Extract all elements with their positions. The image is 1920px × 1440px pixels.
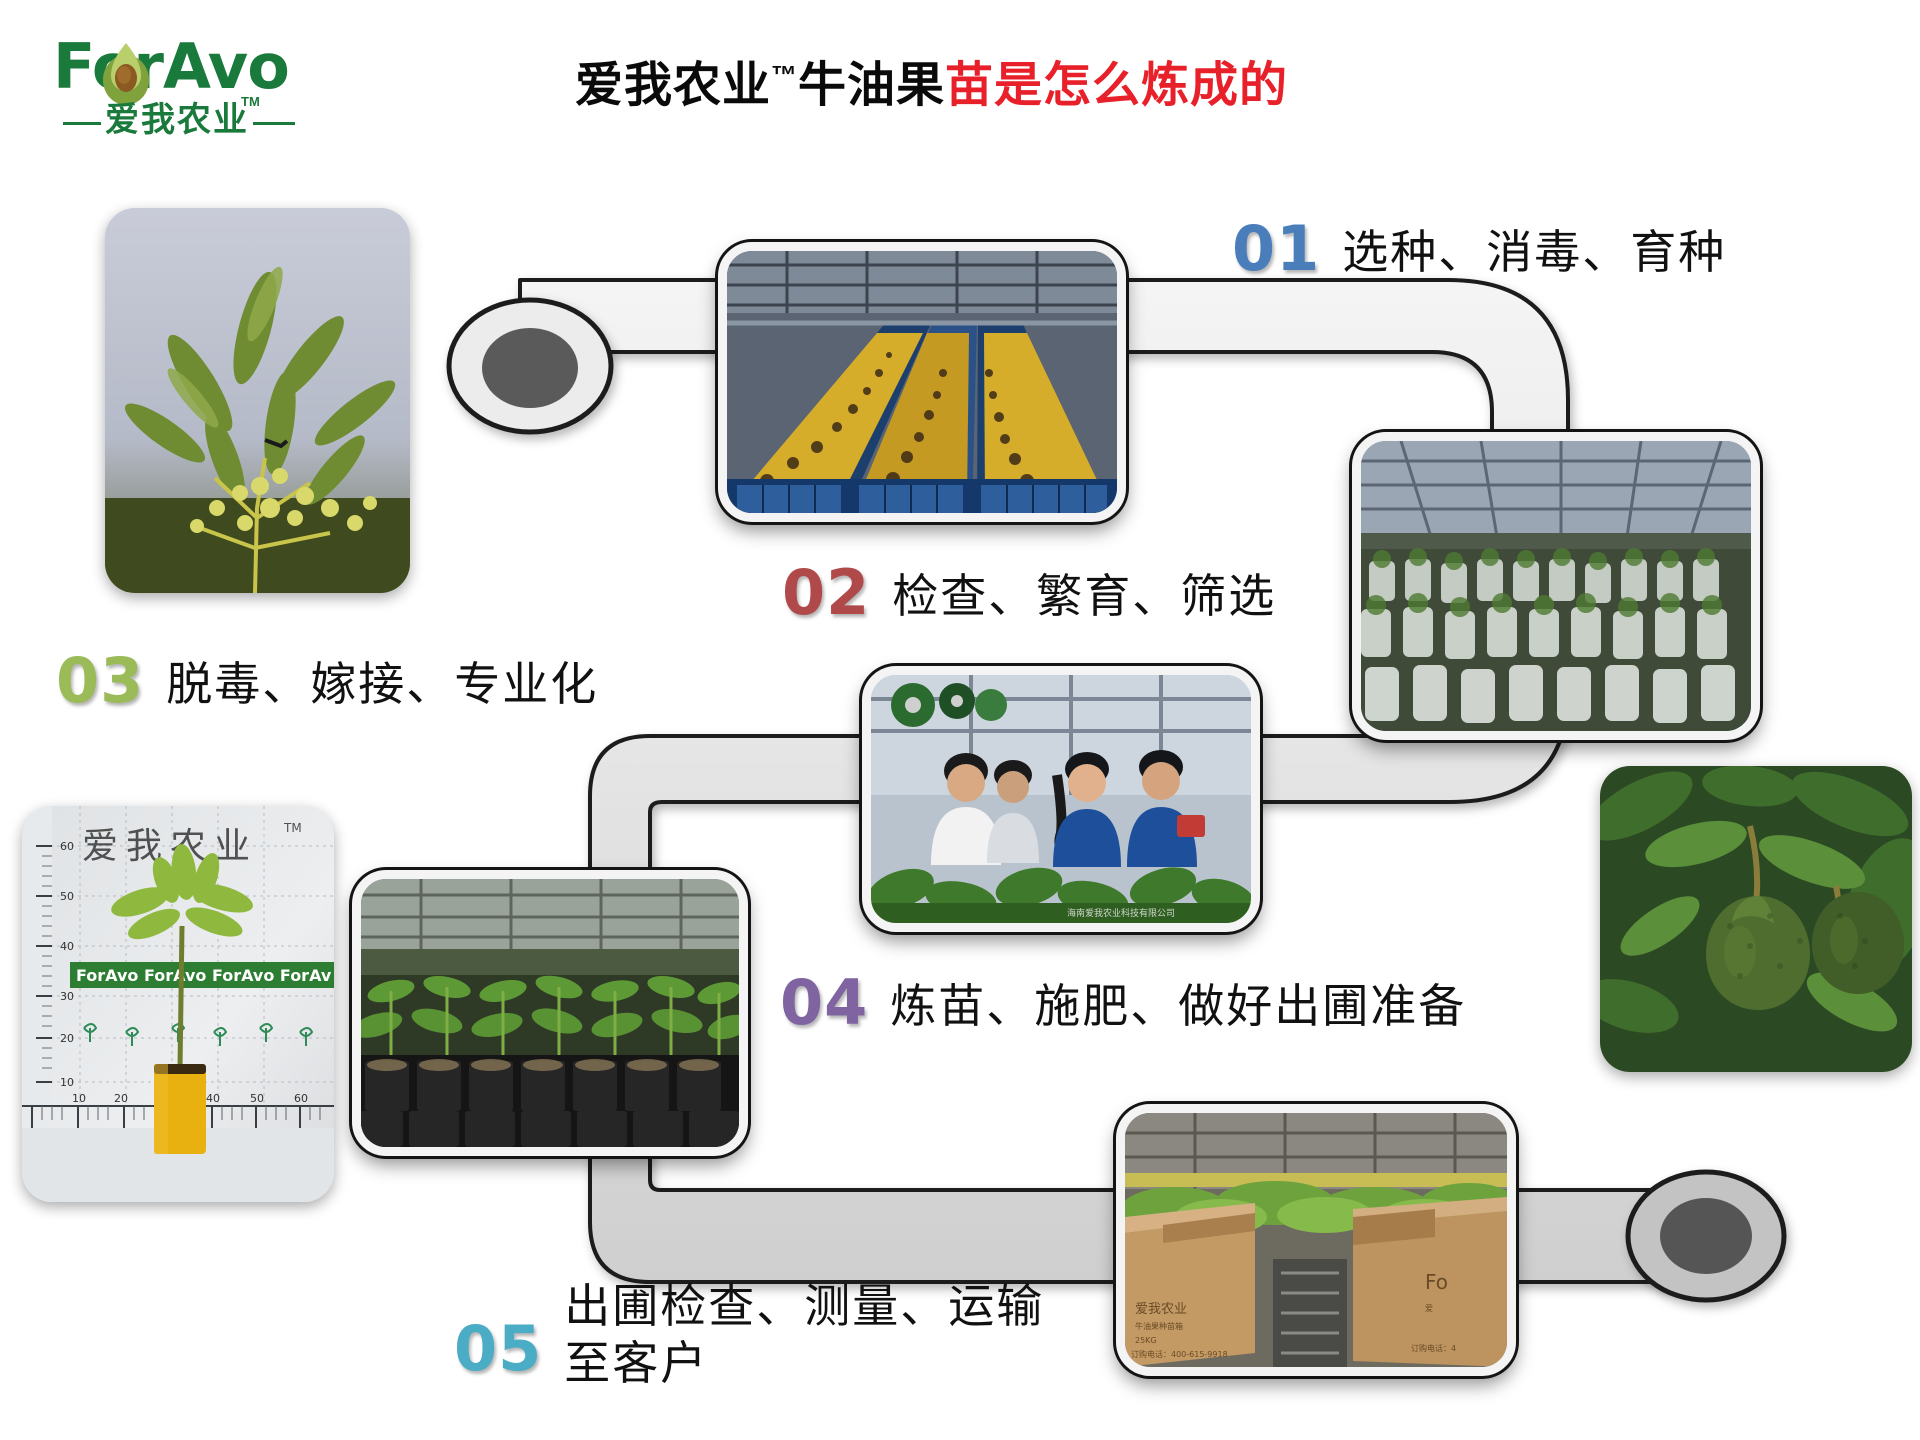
svg-text:爱我农业: 爱我农业 (1135, 1302, 1187, 1317)
step-04-label: 炼苗、施肥、做好出圃准备 (890, 970, 1466, 1036)
svg-text:10: 10 (60, 1076, 74, 1089)
photo-avocado-flowering-branch (105, 208, 410, 593)
photo-staff-inspecting-seedlings: 海南爱我农业科技有限公司 (862, 666, 1260, 932)
flowering-branch-art (105, 208, 410, 593)
ribbon-tail-segment (1660, 1188, 1700, 1284)
step-01-number: 01 (1232, 212, 1320, 285)
svg-text:爱: 爱 (1425, 1304, 1433, 1313)
photo-ruler-measured-seedling: 爱我农业 TM 605040 302010 ForAvo ForAvo ForA… (22, 806, 334, 1202)
svg-text:40: 40 (206, 1092, 220, 1105)
logo-trademark: TM (241, 94, 260, 109)
step-04-number: 04 (780, 966, 868, 1039)
svg-text:ForAvo ForAvo ForAvo ForAv: ForAvo ForAvo ForAvo ForAv (76, 966, 332, 985)
bagged-seedlings-art (1361, 441, 1751, 731)
germination-trays-art (727, 251, 1117, 513)
avocado-fruit-art (1600, 766, 1912, 1072)
logo-wordmark: ForAvo (53, 36, 289, 98)
step-05-label: 出圃检查、测量、运输 至客户 (564, 1278, 1044, 1392)
logo-rule-left (63, 122, 101, 125)
svg-text:爱我农业: 爱我农业 (82, 826, 258, 867)
step-03: 03 脱毒、嫁接、专业化 (56, 644, 598, 717)
step-04: 04 炼苗、施肥、做好出圃准备 (780, 966, 1466, 1039)
step-03-number: 03 (56, 644, 144, 717)
svg-text:25KG: 25KG (1135, 1336, 1157, 1345)
title-trademark: ™ (771, 60, 798, 90)
svg-text:50: 50 (250, 1092, 264, 1105)
step-05-label-line1: 出圃检查、测量、运输 (564, 1278, 1044, 1335)
svg-text:40: 40 (60, 940, 74, 953)
svg-text:Fo: Fo (1425, 1270, 1448, 1294)
avocado-icon (99, 40, 153, 106)
svg-text:订购电话：400-615-9918: 订购电话：400-615-9918 (1131, 1349, 1228, 1359)
step-05-number: 05 (454, 1312, 542, 1385)
svg-text:30: 30 (60, 990, 74, 1003)
svg-text:20: 20 (60, 1032, 74, 1045)
step-01: 01 选种、消毒、育种 (1232, 212, 1726, 285)
photo-packed-seedlings-cartons: 爱我农业 牛油果种苗箱 25KG 订购电话：400-615-9918 Fo 爱 … (1116, 1104, 1516, 1376)
logo-rule-right (253, 122, 295, 125)
svg-text:20: 20 (114, 1092, 128, 1105)
step-05-label-line2: 至客户 (564, 1335, 1044, 1392)
nursery-pots-art (361, 879, 739, 1147)
brand-logo[interactable]: ForAvo 爱我农业 TM (45, 36, 320, 146)
step-05: 05 出圃检查、测量、运输 至客户 (454, 1284, 1044, 1392)
svg-text:60: 60 (60, 840, 74, 853)
staff-inspection-art: 海南爱我农业科技有限公司 (871, 675, 1251, 923)
step-02: 02 检查、繁育、筛选 (782, 556, 1276, 629)
ribbon-end-knob (1628, 1172, 1784, 1300)
title-black-part: 爱我农业 (575, 59, 771, 112)
step-01-label: 选种、消毒、育种 (1342, 216, 1726, 282)
title-red-part: 苗是怎么炼成的 (945, 59, 1288, 112)
svg-text:50: 50 (60, 890, 74, 903)
step-02-label: 检查、繁育、筛选 (892, 560, 1276, 626)
photo-avocado-fruit-on-tree (1600, 766, 1912, 1072)
packed-cartons-art: 爱我农业 牛油果种苗箱 25KG 订购电话：400-615-9918 Fo 爱 … (1125, 1113, 1507, 1367)
step-03-label: 脱毒、嫁接、专业化 (166, 648, 598, 714)
svg-text:10: 10 (72, 1092, 86, 1105)
photo-seed-germination-trays (718, 242, 1126, 522)
page-title: 爱我农业™牛油果苗是怎么炼成的 (575, 46, 1288, 115)
title-black-part-2: 牛油果 (798, 59, 945, 112)
ruler-seedling-art: 爱我农业 TM 605040 302010 ForAvo ForAvo ForA… (22, 806, 334, 1202)
infographic-canvas: ForAvo 爱我农业 TM 爱我农业™牛油果苗是怎么炼成的 (0, 0, 1920, 1440)
svg-text:60: 60 (294, 1092, 308, 1105)
svg-text:牛油果种苗箱: 牛油果种苗箱 (1135, 1321, 1183, 1331)
svg-text:海南爱我农业科技有限公司: 海南爱我农业科技有限公司 (1067, 907, 1175, 919)
photo-potted-seedlings-nursery (352, 870, 748, 1156)
svg-text:订购电话：4: 订购电话：4 (1411, 1343, 1456, 1353)
ribbon-start-knob (449, 300, 611, 432)
photo-grafted-seedlings-bagged (1352, 432, 1760, 740)
logo-chinese-name: 爱我农业 (105, 100, 249, 140)
svg-text:TM: TM (283, 821, 302, 835)
step-02-number: 02 (782, 556, 870, 629)
